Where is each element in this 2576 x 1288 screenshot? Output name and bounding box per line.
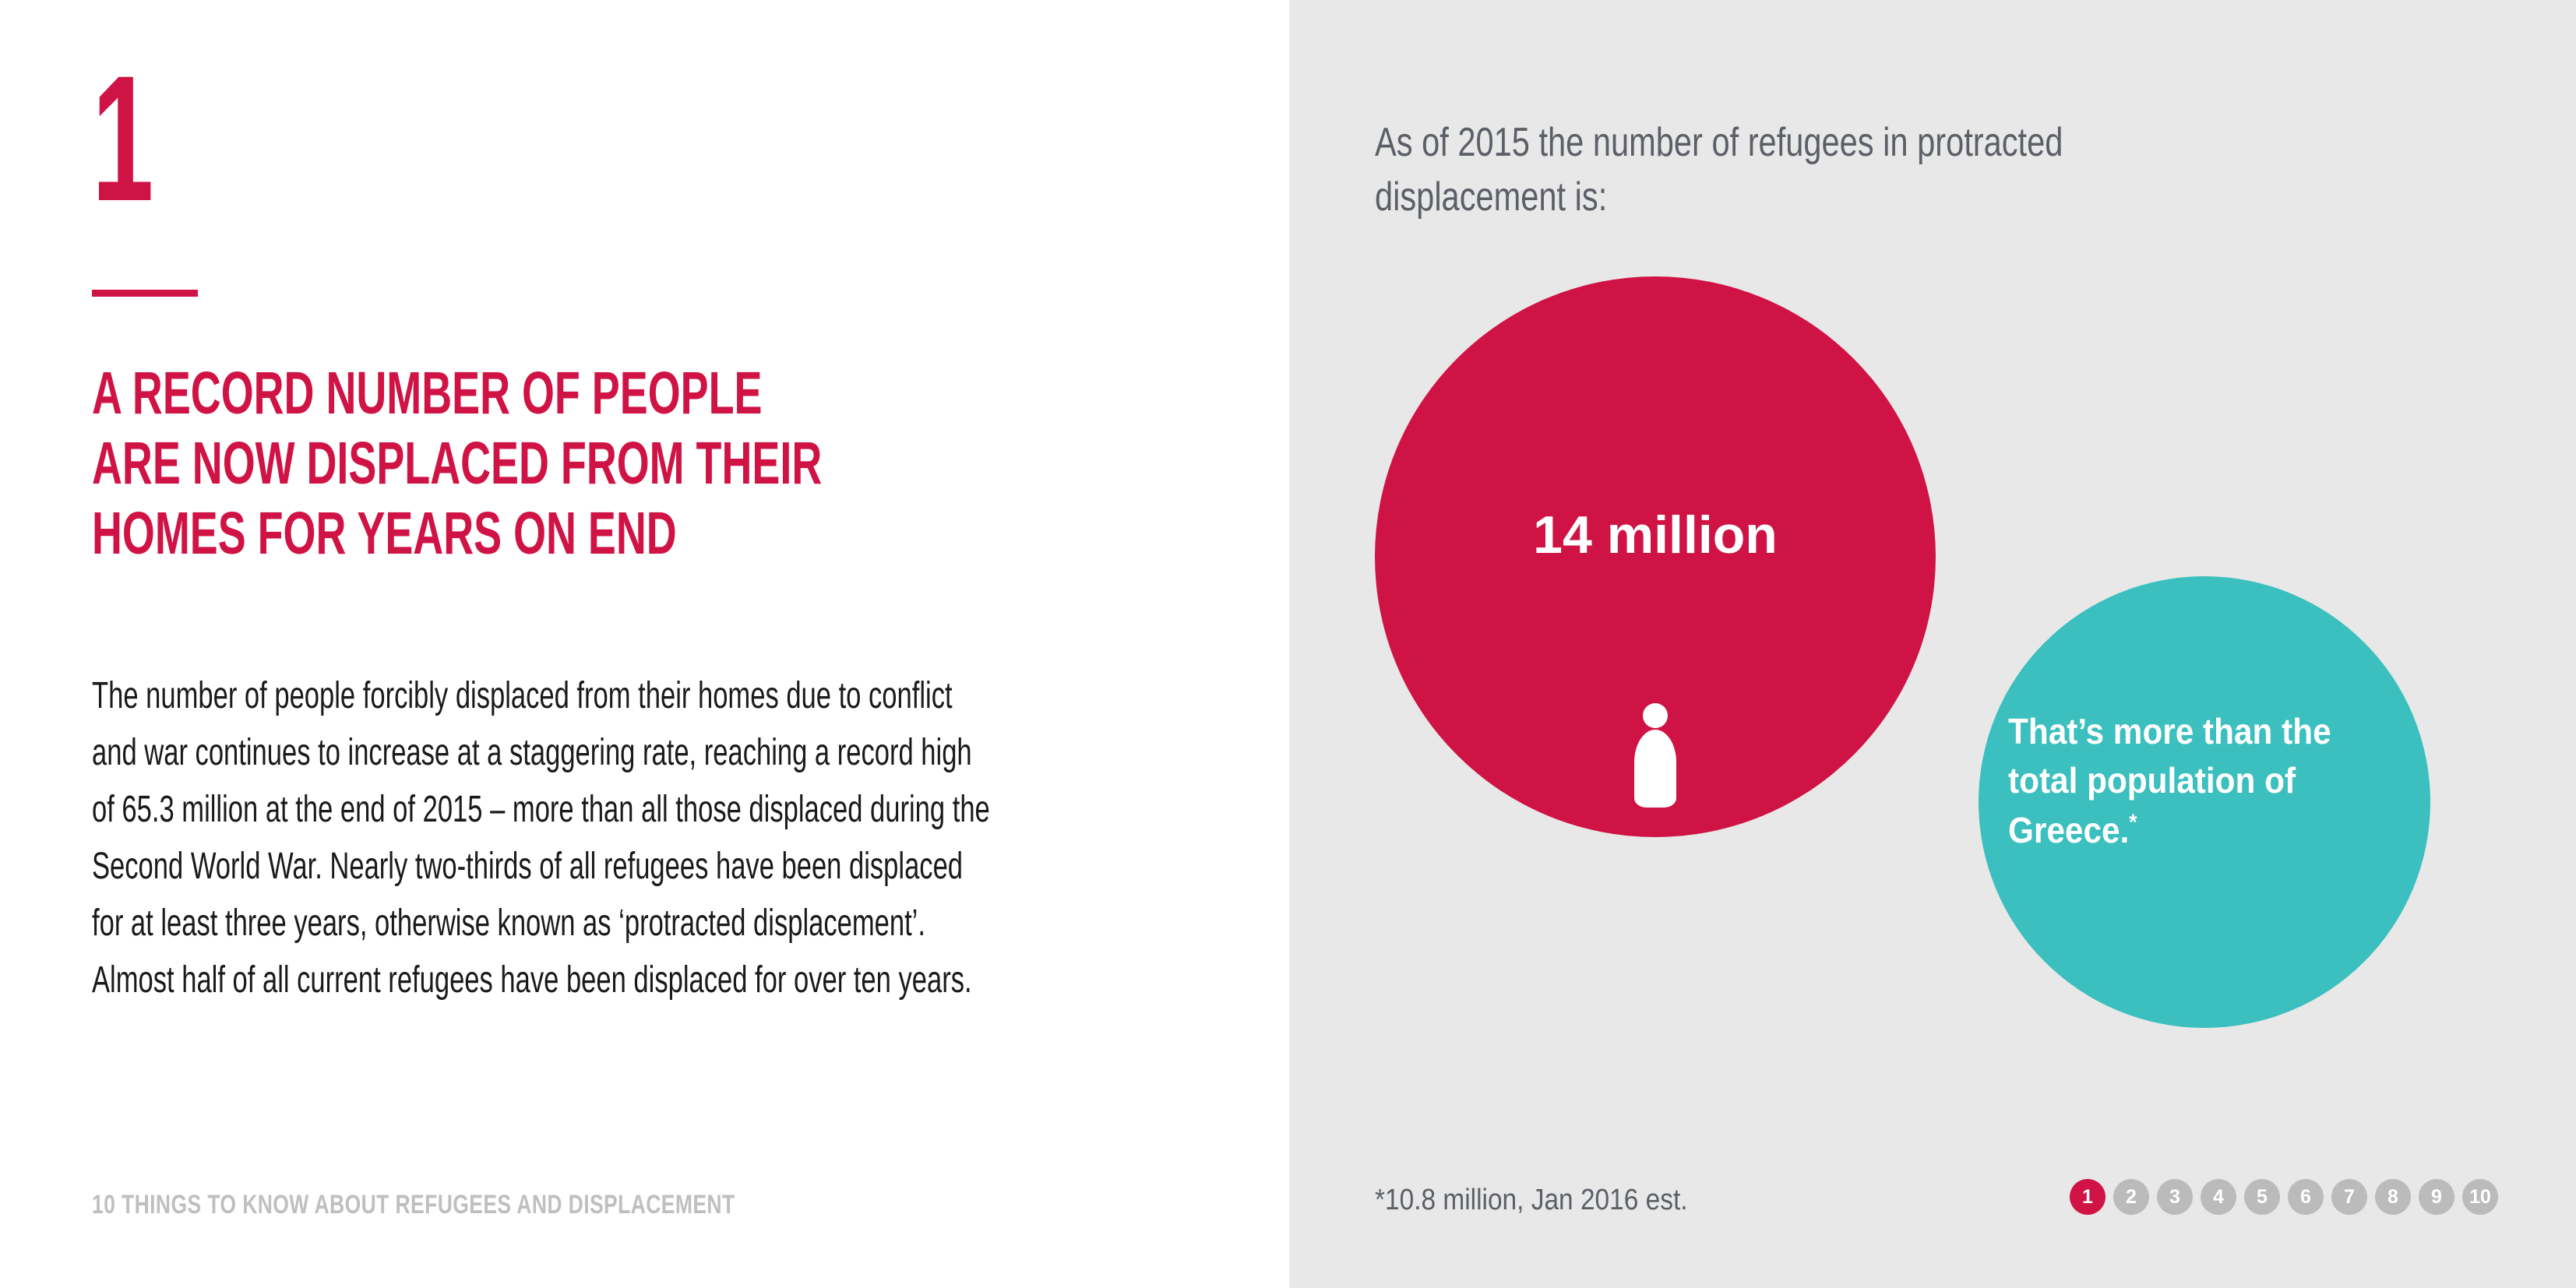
pagination-dot-6[interactable]: 6	[2288, 1179, 2324, 1215]
step-number-rule	[92, 290, 198, 297]
pagination-dot-8[interactable]: 8	[2375, 1179, 2411, 1215]
page-title: A record number of people are now displa…	[92, 358, 833, 568]
teal-bubble-text: That’s more than the total population of…	[2008, 707, 2388, 855]
pagination-dot-7[interactable]: 7	[2331, 1179, 2367, 1215]
pagination-dot-4[interactable]: 4	[2201, 1179, 2236, 1215]
publication-footer: 10 things to know about refugees and dis…	[92, 1190, 735, 1220]
pagination-dot-2[interactable]: 2	[2113, 1179, 2149, 1215]
body-paragraph: The number of people forcibly displaced …	[92, 668, 1000, 1009]
teal-bubble: That’s more than the total population of…	[1979, 576, 2430, 1028]
person-pictogram-icon	[1634, 703, 1676, 808]
teal-bubble-text-main: That’s more than the total population of…	[2008, 711, 2331, 850]
pagination-dot-5[interactable]: 5	[2244, 1179, 2280, 1215]
left-panel: 1 A record number of people are now disp…	[0, 0, 1289, 1288]
red-bubble: 14 million	[1375, 276, 1936, 837]
stat-intro-text: As of 2015 the number of refugees in pro…	[1375, 115, 2185, 224]
pagination-dot-3[interactable]: 3	[2157, 1179, 2193, 1215]
pagination[interactable]: 12345678910	[2070, 1179, 2498, 1215]
infographic-page: 1 A record number of people are now disp…	[0, 0, 2576, 1288]
person-body-shape	[1634, 730, 1676, 808]
step-number-block: 1	[92, 56, 403, 221]
pagination-dot-10[interactable]: 10	[2462, 1179, 2498, 1215]
pagination-dot-1[interactable]: 1	[2070, 1179, 2106, 1215]
footnote-text: *10.8 million, Jan 2016 est.	[1375, 1184, 1688, 1217]
red-bubble-value: 14 million	[1375, 509, 1936, 561]
step-number: 1	[92, 56, 285, 221]
footnote-marker: *	[2129, 811, 2137, 836]
person-head-shape	[1643, 703, 1668, 728]
right-panel: As of 2015 the number of refugees in pro…	[1289, 0, 2576, 1288]
pagination-dot-9[interactable]: 9	[2419, 1179, 2454, 1215]
